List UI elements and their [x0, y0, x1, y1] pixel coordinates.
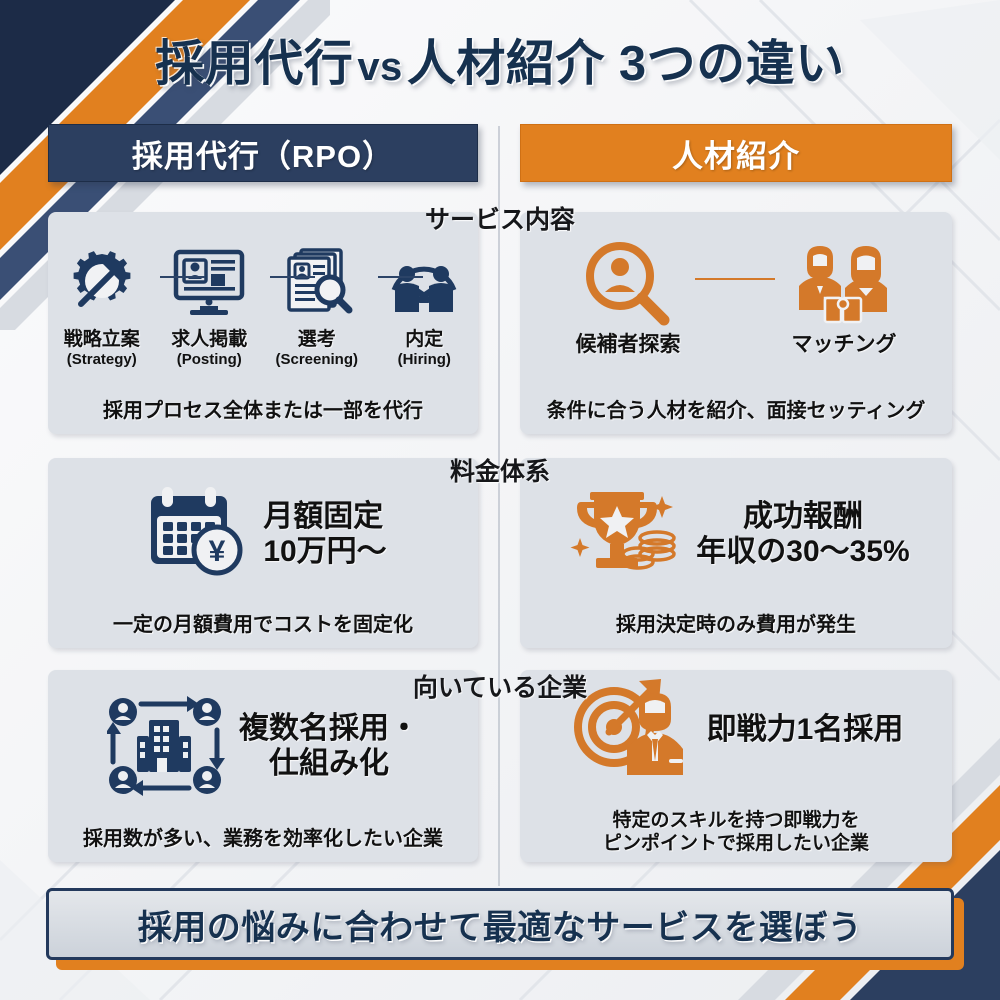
card-caption: 採用数が多い、業務を効率化したい企業: [48, 827, 478, 852]
card-caption: 条件に合う人材を紹介、面接セッティング: [520, 399, 952, 424]
card-caption: 採用決定時のみ費用が発生: [520, 613, 952, 638]
card-service-left: 戦略立案 (Strategy): [48, 212, 478, 434]
suited-left-line2: 仕組み化: [239, 747, 419, 782]
monitor-profile-icon: [159, 242, 259, 320]
section-label-pricing: 料金体系: [0, 452, 1000, 488]
pair-item-candidate-search: 候補者探索: [543, 240, 713, 358]
service-pair: 候補者探索: [520, 240, 952, 358]
chain-step-hiring: 内定 (Hiring): [374, 242, 474, 368]
chain-step-label-jp: 選考: [267, 324, 367, 351]
chain-step-screening: 選考 (Screening): [267, 242, 367, 368]
column-header-left-label: 採用代行（RPO）: [132, 131, 394, 176]
chain-connector: [378, 276, 423, 278]
column-header-right: 人材紹介: [520, 124, 952, 182]
people-puzzle-icon: [759, 240, 929, 326]
card-caption-line1: 特定のスキルを持つ即戦力を: [520, 809, 952, 833]
process-chain: 戦略立案 (Strategy): [48, 242, 478, 368]
bottom-banner-text: 採用の悩みに合わせて最適なサービスを選ぼう: [138, 900, 863, 949]
trophy-coins-icon: [562, 482, 682, 587]
card-service-right: 候補者探索: [520, 212, 952, 434]
column-divider: [498, 126, 500, 886]
chain-step-label-en: (Screening): [267, 351, 367, 368]
person-magnifier-icon: [543, 240, 713, 326]
title-part1: 採用代行: [155, 37, 353, 91]
title-part2: 人材紹介 3つの違い: [407, 37, 845, 91]
team-cycle-building-icon: [107, 692, 225, 802]
pricing-right-line1: 成功報酬: [696, 500, 909, 535]
handshake-icon: [374, 242, 474, 320]
gear-arrow-icon: [52, 242, 152, 320]
card-caption-line2: ピンポイントで採用したい企業: [520, 832, 952, 856]
chain-connector: [270, 276, 315, 278]
page-title: 採用代行vs人材紹介 3つの違い: [0, 24, 1000, 95]
pricing-left-line2: 10万円〜: [263, 535, 386, 570]
pair-connector: [695, 278, 775, 280]
suited-right-line1: 即戦力1名採用: [707, 713, 904, 748]
chain-step-label-jp: 求人掲載: [159, 324, 259, 351]
card-caption: 一定の月額費用でコストを固定化: [48, 613, 478, 638]
chain-step-label-jp: 内定: [374, 324, 474, 351]
pricing-right-text: 成功報酬 年収の30〜35%: [696, 500, 909, 570]
chain-step-label-en: (Hiring): [374, 351, 474, 368]
calendar-yen-icon: ¥: [139, 482, 249, 587]
chain-step-label-jp: 戦略立案: [52, 324, 152, 351]
suited-left-line1: 複数名採用・: [239, 712, 419, 747]
bottom-banner: 採用の悩みに合わせて最適なサービスを選ぼう: [46, 888, 954, 960]
pair-item-label: 候補者探索: [543, 328, 713, 358]
suited-left-text: 複数名採用・ 仕組み化: [239, 712, 419, 782]
card-caption: 特定のスキルを持つ即戦力を ピンポイントで採用したい企業: [520, 809, 952, 857]
pricing-right-line2: 年収の30〜35%: [696, 535, 909, 570]
svg-text:¥: ¥: [209, 535, 226, 568]
column-header-left: 採用代行（RPO）: [48, 124, 478, 182]
title-vs: vs: [353, 45, 407, 89]
chain-step-strategy: 戦略立案 (Strategy): [52, 242, 152, 368]
pair-item-label: マッチング: [759, 328, 929, 358]
chain-step-posting: 求人掲載 (Posting): [159, 242, 259, 368]
pricing-left-line1: 月額固定: [263, 500, 386, 535]
pricing-left-content: ¥ 月額固定 10万円〜: [48, 472, 478, 597]
chain-step-label-en: (Strategy): [52, 351, 152, 368]
card-caption: 採用プロセス全体または一部を代行: [48, 399, 478, 424]
section-label-suited: 向いている企業: [0, 668, 1000, 704]
pair-item-matching: マッチング: [759, 240, 929, 358]
pricing-right-content: 成功報酬 年収の30〜35%: [520, 472, 952, 597]
column-header-right-label: 人材紹介: [672, 131, 800, 176]
section-label-service: サービス内容: [0, 200, 1000, 236]
pricing-left-text: 月額固定 10万円〜: [263, 500, 386, 570]
chain-step-label-en: (Posting): [159, 351, 259, 368]
suited-right-text: 即戦力1名採用: [707, 713, 904, 748]
document-search-icon: [267, 242, 367, 320]
chain-connector: [160, 276, 205, 278]
bottom-banner-wrapper: 採用の悩みに合わせて最適なサービスを選ぼう: [46, 888, 954, 960]
